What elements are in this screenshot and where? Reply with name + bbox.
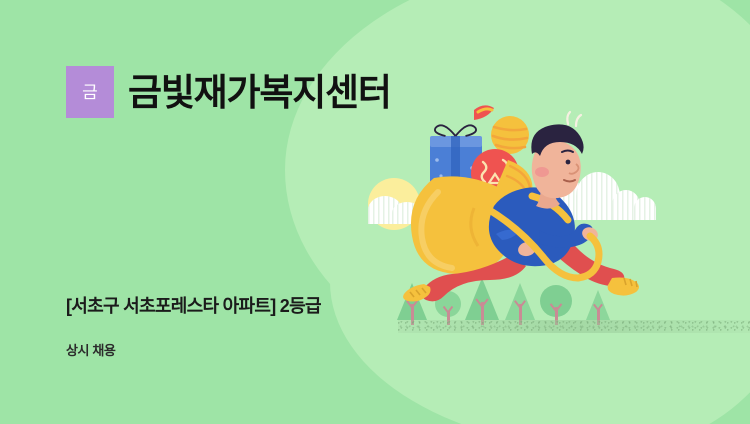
- card-header: 금 금빛재가복지센터: [66, 66, 391, 118]
- organization-logo-badge: 금: [66, 66, 114, 118]
- gift-ball-yellow-icon: [491, 116, 529, 154]
- running-delivery-man-illustration: [390, 88, 660, 308]
- ground-strip: [398, 320, 750, 333]
- organization-name: 금빛재가복지센터: [128, 74, 391, 111]
- background-illustration-layer: [0, 0, 750, 424]
- employment-type-label: 상시 채용: [66, 340, 115, 359]
- job-posting-card: 금 금빛재가복지센터 [서초구 서초포레스타 아파트] 2등급 상시 채용: [0, 0, 750, 424]
- job-title: [서초구 서초포레스타 아파트] 2등급: [66, 292, 321, 318]
- confetti-icon: [474, 105, 494, 120]
